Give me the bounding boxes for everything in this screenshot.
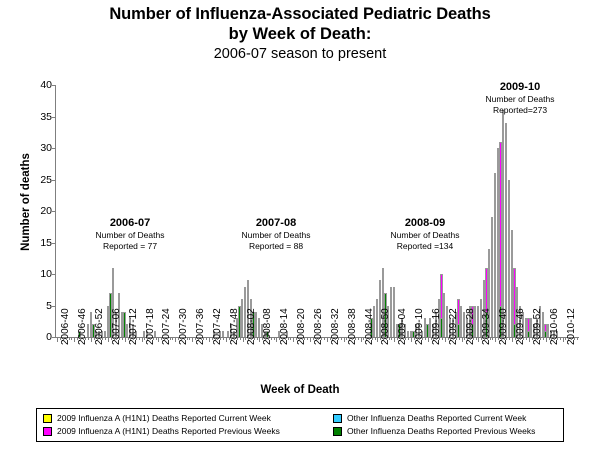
x-tick-mark [366,337,367,340]
x-tick-mark [318,337,319,340]
x-tick-mark [313,337,314,340]
x-tick-mark [170,337,171,340]
x-tick-mark [268,337,269,340]
x-tick-mark [167,337,168,340]
x-tick-mark [518,337,519,340]
x-tick-mark [526,337,527,340]
annotation-line-2: Reported=273 [450,105,590,116]
x-tick-mark [487,337,488,340]
x-tick-mark [102,337,103,340]
x-tick-mark [344,337,345,342]
x-tick-mark [380,337,381,340]
x-tick-mark [358,337,359,340]
x-tick-mark [142,337,143,342]
annotation-line-2: Reported = 88 [206,241,346,252]
x-tick-mark [478,337,479,342]
x-tick-mark [237,337,238,340]
title-line-2: by Week of Death: [0,24,600,44]
x-tick-mark [80,337,81,340]
x-tick-mark [85,337,86,340]
x-tick-mark [363,337,364,340]
x-tick-mark [400,337,401,340]
x-tick-mark [509,337,510,340]
x-tick-mark [565,337,566,340]
x-tick-mark [100,337,101,340]
x-tick-mark [568,337,569,340]
annotation-2008-09: 2008-09 Number of Deaths Reported =134 [355,216,495,252]
x-tick-mark [419,337,420,340]
x-tick-mark [153,337,154,340]
x-tick-mark [577,337,578,340]
x-tick-mark [217,337,218,340]
x-tick-mark [302,337,303,340]
title-line-1: Number of Influenza-Associated Pediatric… [0,4,600,24]
x-tick-mark [97,337,98,340]
x-tick-mark [349,337,350,340]
x-tick-mark [316,337,317,340]
x-tick-mark [462,337,463,342]
x-tick-mark [164,337,165,340]
x-tick-mark [130,337,131,340]
x-tick-mark [506,337,507,340]
x-axis-label: Week of Death [0,384,600,396]
x-tick-mark [408,337,409,340]
x-tick-mark [431,337,432,340]
annotation-line-2: Reported =134 [355,241,495,252]
x-tick-mark [543,337,544,340]
x-tick-mark [335,337,336,340]
x-tick-mark [310,337,311,342]
x-tick-mark [156,337,157,340]
x-tick-mark [262,337,263,340]
x-tick-mark [114,337,115,340]
x-tick-mark [229,337,230,340]
x-tick-mark [470,337,471,340]
plot-area: 0510152025303540 [56,85,578,337]
x-tick-mark [495,337,496,342]
x-tick-mark [209,337,210,342]
legend-label: Other Influenza Deaths Reported Previous… [347,427,535,436]
x-tick-mark [296,337,297,340]
x-tick-mark [551,337,552,340]
x-tick-mark [321,337,322,340]
x-tick-mark [91,337,92,342]
x-tick-mark [94,337,95,340]
x-tick-mark [397,337,398,340]
x-tick-mark [512,337,513,342]
x-tick-mark [265,337,266,340]
x-tick-mark [201,337,202,340]
x-tick-mark [293,337,294,342]
x-tick-mark [206,337,207,340]
x-tick-mark [473,337,474,340]
x-tick-mark [375,337,376,340]
x-tick-mark [285,337,286,340]
x-tick-mark [125,337,126,342]
annotation-season-label: 2007-08 [206,216,346,230]
x-tick-mark [372,337,373,340]
x-tick-mark [352,337,353,340]
x-tick-mark [231,337,232,340]
x-tick-mark [274,337,275,340]
x-tick-mark [105,337,106,340]
x-tick-mark [327,337,328,342]
x-tick-mark [212,337,213,340]
x-tick-mark [515,337,516,340]
x-tick-mark [563,337,564,342]
legend-item-h1n1-current: 2009 Influenza A (H1N1) Deaths Reported … [43,414,333,423]
x-tick-mark [60,337,61,340]
x-tick-mark [417,337,418,340]
annotation-line-1: Number of Deaths [60,230,200,241]
x-tick-mark [520,337,521,340]
x-tick-mark [243,337,244,342]
chart-title: Number of Influenza-Associated Pediatric… [0,4,600,64]
legend-label: 2009 Influenza A (H1N1) Deaths Reported … [57,427,280,436]
x-tick-mark [271,337,272,340]
legend-row-2: 2009 Influenza A (H1N1) Deaths Reported … [43,425,557,438]
y-axis-label: Number of deaths [20,132,32,272]
x-tick-mark [332,337,333,340]
x-tick-mark [251,337,252,340]
title-line-3: 2006-07 season to present [0,44,600,64]
x-tick-mark [560,337,561,340]
x-tick-mark [355,337,356,340]
x-tick-mark [175,337,176,342]
x-tick-mark [77,337,78,340]
x-tick-mark [448,337,449,340]
x-tick-mark [150,337,151,340]
x-tick-mark [391,337,392,340]
x-tick-mark [456,337,457,340]
annotation-2007-08: 2007-08 Number of Deaths Reported = 88 [206,216,346,252]
x-tick-mark [172,337,173,340]
x-tick-mark [234,337,235,340]
x-tick-mark [240,337,241,340]
chart-legend: 2009 Influenza A (H1N1) Deaths Reported … [36,408,564,442]
annotation-season-label: 2009-10 [450,80,590,94]
x-tick-mark [436,337,437,340]
x-tick-mark [425,337,426,340]
annotation-season-label: 2006-07 [60,216,200,230]
x-tick-mark [181,337,182,340]
x-tick-mark [537,337,538,340]
x-tick-mark [71,337,72,340]
x-tick-mark [453,337,454,340]
x-tick-mark [394,337,395,342]
x-tick-mark [504,337,505,340]
x-tick-mark [288,337,289,340]
x-tick-mark [276,337,277,342]
y-tick-label: 20 [40,206,52,216]
x-tick-mark [369,337,370,340]
y-tick-label: 15 [40,238,52,248]
y-tick-label: 40 [40,80,52,90]
x-tick-mark [414,337,415,340]
x-tick-mark [523,337,524,340]
x-tick-mark [198,337,199,340]
legend-label: 2009 Influenza A (H1N1) Deaths Reported … [57,414,271,423]
x-tick-mark [184,337,185,340]
legend-item-other-current: Other Influenza Deaths Reported Current … [333,414,526,423]
x-tick-mark [361,337,362,342]
x-tick-mark [324,337,325,340]
x-tick-group: 2006-402006-462006-522007-062007-122007-… [56,337,578,345]
x-tick-mark [133,337,134,340]
annotation-2006-07: 2006-07 Number of Deaths Reported = 77 [60,216,200,252]
x-tick-mark [445,337,446,342]
x-tick-mark [282,337,283,340]
x-tick-mark [433,337,434,340]
x-tick-mark [490,337,491,340]
x-tick-mark [484,337,485,340]
x-tick-mark [139,337,140,340]
x-tick-mark [554,337,555,340]
x-tick-mark [535,337,536,340]
x-tick-mark [307,337,308,340]
x-tick-mark [108,337,109,342]
x-tick-mark [57,337,58,342]
y-tick-label: 35 [40,112,52,122]
x-tick-mark [422,337,423,340]
x-tick-mark [459,337,460,340]
x-tick-mark [549,337,550,340]
x-tick-mark [442,337,443,340]
x-tick-mark [540,337,541,340]
x-tick-mark [119,337,120,340]
x-tick-mark [63,337,64,340]
x-tick-mark [220,337,221,340]
x-tick-mark [161,337,162,340]
x-tick-mark [386,337,387,340]
x-tick-mark [136,337,137,340]
y-tick-label: 10 [40,269,52,279]
bar-series-group [56,85,578,337]
x-tick-mark [178,337,179,340]
x-tick-mark [338,337,339,340]
x-tick-mark [299,337,300,340]
x-tick-mark [144,337,145,340]
annotation-line-1: Number of Deaths [355,230,495,241]
x-tick-mark [532,337,533,340]
annotation-2009-10: 2009-10 Number of Deaths Reported=273 [450,80,590,116]
x-tick-mark [574,337,575,340]
x-tick-mark [279,337,280,340]
legend-swatch-green-icon [333,427,342,436]
x-tick-mark [74,337,75,342]
annotation-line-1: Number of Deaths [450,94,590,105]
x-tick-mark [116,337,117,340]
x-tick-mark [111,337,112,340]
x-tick-mark [226,337,227,342]
x-tick-mark [389,337,390,340]
x-tick-mark [377,337,378,342]
annotation-line-2: Reported = 77 [60,241,200,252]
legend-row-1: 2009 Influenza A (H1N1) Deaths Reported … [43,412,557,425]
x-tick-mark [122,337,123,340]
x-tick-mark [69,337,70,340]
x-tick-mark [192,337,193,342]
annotation-line-1: Number of Deaths [206,230,346,241]
x-tick-mark [187,337,188,340]
x-tick-mark [476,337,477,340]
x-tick-mark [403,337,404,340]
x-tick-mark [405,337,406,340]
x-tick-mark [501,337,502,340]
x-tick-mark [464,337,465,340]
y-tick-label: 30 [40,143,52,153]
x-tick-mark [571,337,572,340]
x-tick-mark [66,337,67,340]
x-tick-mark [304,337,305,340]
x-tick-mark [215,337,216,340]
x-tick-mark [498,337,499,340]
x-tick-mark [257,337,258,340]
x-tick-mark [128,337,129,340]
x-tick-mark [290,337,291,340]
x-tick-mark [546,337,547,342]
x-tick-mark [248,337,249,340]
x-tick-mark [259,337,260,342]
x-tick-mark [428,337,429,342]
x-tick-mark [383,337,384,340]
legend-swatch-magenta-icon [43,427,52,436]
x-tick-mark [467,337,468,340]
x-tick-mark [195,337,196,340]
x-tick-mark [411,337,412,342]
x-tick-mark [341,337,342,340]
x-tick-mark [203,337,204,340]
y-tick-label: 25 [40,175,52,185]
legend-item-other-previous: Other Influenza Deaths Reported Previous… [333,427,535,436]
x-tick-mark [450,337,451,340]
annotation-season-label: 2008-09 [355,216,495,230]
x-tick-mark [330,337,331,340]
x-tick-mark [88,337,89,340]
x-tick-mark [346,337,347,340]
x-tick-mark [83,337,84,340]
x-tick-mark [147,337,148,340]
x-tick-mark [481,337,482,340]
x-tick-mark [245,337,246,340]
x-tick-mark [223,337,224,340]
x-tick-mark [189,337,190,340]
x-tick-mark [492,337,493,340]
x-tick-mark [439,337,440,340]
x-tick-mark [529,337,530,342]
legend-swatch-yellow-icon [43,414,52,423]
x-tick-mark [254,337,255,340]
x-tick-mark [158,337,159,342]
legend-item-h1n1-previous: 2009 Influenza A (H1N1) Deaths Reported … [43,427,333,436]
legend-label: Other Influenza Deaths Reported Current … [347,414,526,423]
x-tick-mark [557,337,558,340]
legend-swatch-cyan-icon [333,414,342,423]
